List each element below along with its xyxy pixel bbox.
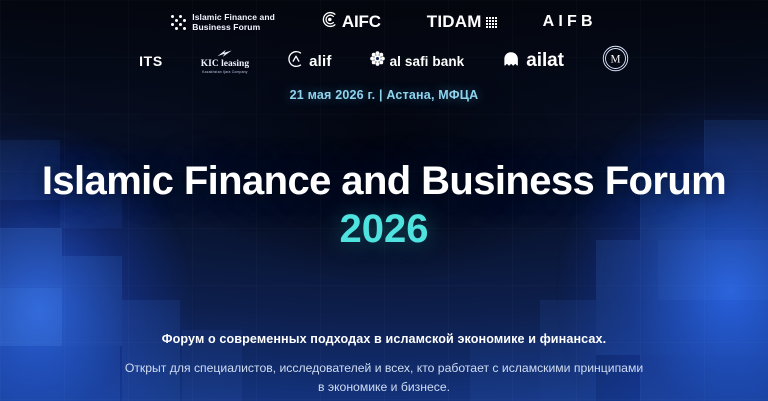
partner-logo-aifb[interactable]: AIFB — [543, 13, 597, 31]
alif-arc-icon — [287, 50, 305, 73]
partner-ifbf-line1: Islamic Finance and — [192, 12, 275, 22]
kic-wings-icon — [216, 49, 234, 58]
partner-logo-ailat[interactable]: ailat — [502, 50, 564, 72]
page-title-year: 2026 — [0, 206, 768, 252]
monogram-circle-icon: M — [602, 45, 629, 77]
partner-al-safi-label: al safi bank — [390, 54, 465, 69]
partner-tidam-label: TIDAM — [427, 12, 482, 32]
hero-lead-text: Форум о современных подходах в исламской… — [0, 332, 768, 346]
checker-pattern-icon — [171, 15, 186, 30]
page-title: Islamic Finance and Business Forum — [0, 158, 768, 204]
svg-text:M: M — [610, 54, 620, 66]
ailat-dome-icon — [502, 51, 520, 72]
partner-aifb-label: AIFB — [543, 13, 597, 31]
partner-logo-alif[interactable]: alif — [287, 50, 331, 73]
partner-kic-sublabel: Kazakhstan Ijara Company — [202, 69, 248, 73]
partner-alif-label: alif — [309, 53, 331, 70]
hero-copy-block: Форум о современных подходах в исламской… — [0, 332, 768, 397]
partner-ailat-label: ailat — [526, 50, 564, 72]
partner-aifc-label: AIFC — [342, 12, 381, 32]
partner-logo-aifc[interactable]: AIFC — [321, 11, 381, 33]
partner-its-label: ITS — [139, 53, 163, 69]
partner-row-1: Islamic Finance and Business Forum AIFC … — [0, 0, 768, 40]
partner-row-2: ITS KIC leasing Kazakhstan Ijara Company — [0, 40, 768, 82]
aifc-spiral-icon — [321, 11, 338, 33]
hero-title-block: Islamic Finance and Business Forum 2026 — [0, 158, 768, 252]
hero-banner: Islamic Finance and Business Forum AIFC … — [0, 0, 768, 401]
event-date-location: 21 мая 2026 г. | Астана, МФЦА — [0, 88, 768, 102]
partner-logo-m-monogram[interactable]: M M — [602, 45, 629, 77]
partner-kic-label: KIC leasing — [201, 59, 249, 69]
hero-sub-text: Открыт для специалистов, исследователей … — [124, 359, 644, 397]
partner-logo-ifbf[interactable]: Islamic Finance and Business Forum — [171, 12, 275, 32]
dot-grid-icon — [486, 17, 497, 28]
partner-logo-kic-leasing[interactable]: KIC leasing Kazakhstan Ijara Company — [201, 49, 249, 74]
partner-ifbf-line2: Business Forum — [192, 22, 260, 32]
flower-gear-icon — [370, 51, 385, 71]
partner-logo-strip: Islamic Finance and Business Forum AIFC … — [0, 0, 768, 82]
partner-logo-tidam[interactable]: TIDAM — [427, 12, 497, 32]
partner-logo-its[interactable]: ITS — [139, 53, 163, 69]
partner-logo-al-safi-bank[interactable]: al safi bank — [370, 51, 465, 71]
